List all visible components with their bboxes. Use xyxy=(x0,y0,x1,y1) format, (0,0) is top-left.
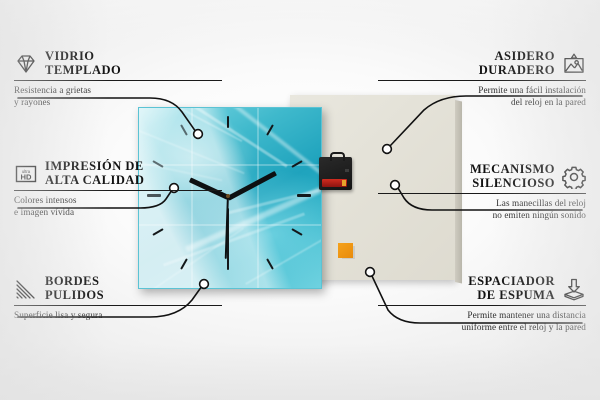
feature-desc-line2: e imagen vívida xyxy=(14,207,222,219)
clock-center-hub xyxy=(226,194,230,198)
feature-title-line2: ALTA CALIDAD xyxy=(45,174,144,188)
feature-title-line1: ESPACIADOR xyxy=(468,275,555,289)
battery xyxy=(322,179,347,187)
feature-rule xyxy=(378,80,586,81)
diamond-icon xyxy=(14,52,38,76)
feature-impresion-alta-calidad[interactable]: ultra HD IMPRESIÓN DE ALTA CALIDAD Color… xyxy=(14,160,222,219)
feature-desc-line1: Colores intensos xyxy=(14,195,222,207)
feature-title-line2: DE ESPUMA xyxy=(477,289,555,303)
feature-desc-line1: Permite una fácil instalación xyxy=(378,85,586,97)
feature-vidrio-templado[interactable]: VIDRIO TEMPLADO Resistencia a grietas y … xyxy=(14,50,222,109)
feature-desc-line1: Las manecillas del reloj xyxy=(378,198,586,210)
feature-description: Permite mantener una distancia uniforme … xyxy=(378,310,586,334)
feature-title-line2: PULIDOS xyxy=(45,289,104,303)
clock-movement xyxy=(319,157,352,190)
feature-desc-line2: del reloj en la pared xyxy=(378,97,586,109)
feature-desc-line2: y rayones xyxy=(14,97,222,109)
feature-mecanismo-silencioso[interactable]: MECANISMO SILENCIOSO Las manecillas del … xyxy=(378,163,586,222)
feature-rule xyxy=(14,80,222,81)
feature-rule xyxy=(14,190,222,191)
feature-title-line1: IMPRESIÓN DE xyxy=(45,160,144,174)
feature-rule xyxy=(378,193,586,194)
feature-description: Superficie lisa y segura xyxy=(14,310,222,322)
polished-edge-icon xyxy=(14,277,38,301)
feature-rule xyxy=(14,305,222,306)
feature-desc-line1: Superficie lisa y segura xyxy=(14,310,222,322)
feature-title-line1: ASIDERO xyxy=(495,50,555,64)
foam-spacer xyxy=(338,243,353,258)
movement-hanger xyxy=(330,152,345,161)
feature-desc-line1: Permite mantener una distancia xyxy=(378,310,586,322)
feature-desc-line2: uniforme entre el reloj y la pared xyxy=(378,322,586,334)
feature-title-line2: SILENCIOSO xyxy=(472,177,555,191)
hanging-frame-icon xyxy=(562,52,586,76)
feature-title-line1: MECANISMO xyxy=(470,163,555,177)
feature-desc-line1: Resistencia a grietas xyxy=(14,85,222,97)
feature-title-line1: VIDRIO xyxy=(45,50,95,64)
gear-icon xyxy=(562,165,586,189)
infographic-canvas: VIDRIO TEMPLADO Resistencia a grietas y … xyxy=(0,0,600,400)
foam-spacer-icon xyxy=(562,277,586,301)
feature-title-line2: DURADERO xyxy=(479,64,555,78)
feature-description: Permite una fácil instalación del reloj … xyxy=(378,85,586,109)
feature-rule xyxy=(378,305,586,306)
ultra-hd-icon: ultra HD xyxy=(14,162,38,186)
svg-text:HD: HD xyxy=(21,172,32,181)
feature-description: Colores intensos e imagen vívida xyxy=(14,195,222,219)
feature-title-line1: BORDES xyxy=(45,275,99,289)
feature-espaciador-de-espuma[interactable]: ESPACIADOR DE ESPUMA Permite mantener un… xyxy=(378,275,586,334)
feature-desc-line2: no emiten ningún sonido xyxy=(378,210,586,222)
feature-description: Las manecillas del reloj no emiten ningú… xyxy=(378,198,586,222)
feature-bordes-pulidos[interactable]: BORDES PULIDOS Superficie lisa y segura xyxy=(14,275,222,322)
feature-title-line2: TEMPLADO xyxy=(45,64,121,78)
feature-asidero-duradero[interactable]: ASIDERO DURADERO Permite una fácil insta… xyxy=(378,50,586,109)
movement-terminal xyxy=(345,169,349,172)
clock-minute-hand xyxy=(227,170,277,199)
feature-description: Resistencia a grietas y rayones xyxy=(14,85,222,109)
